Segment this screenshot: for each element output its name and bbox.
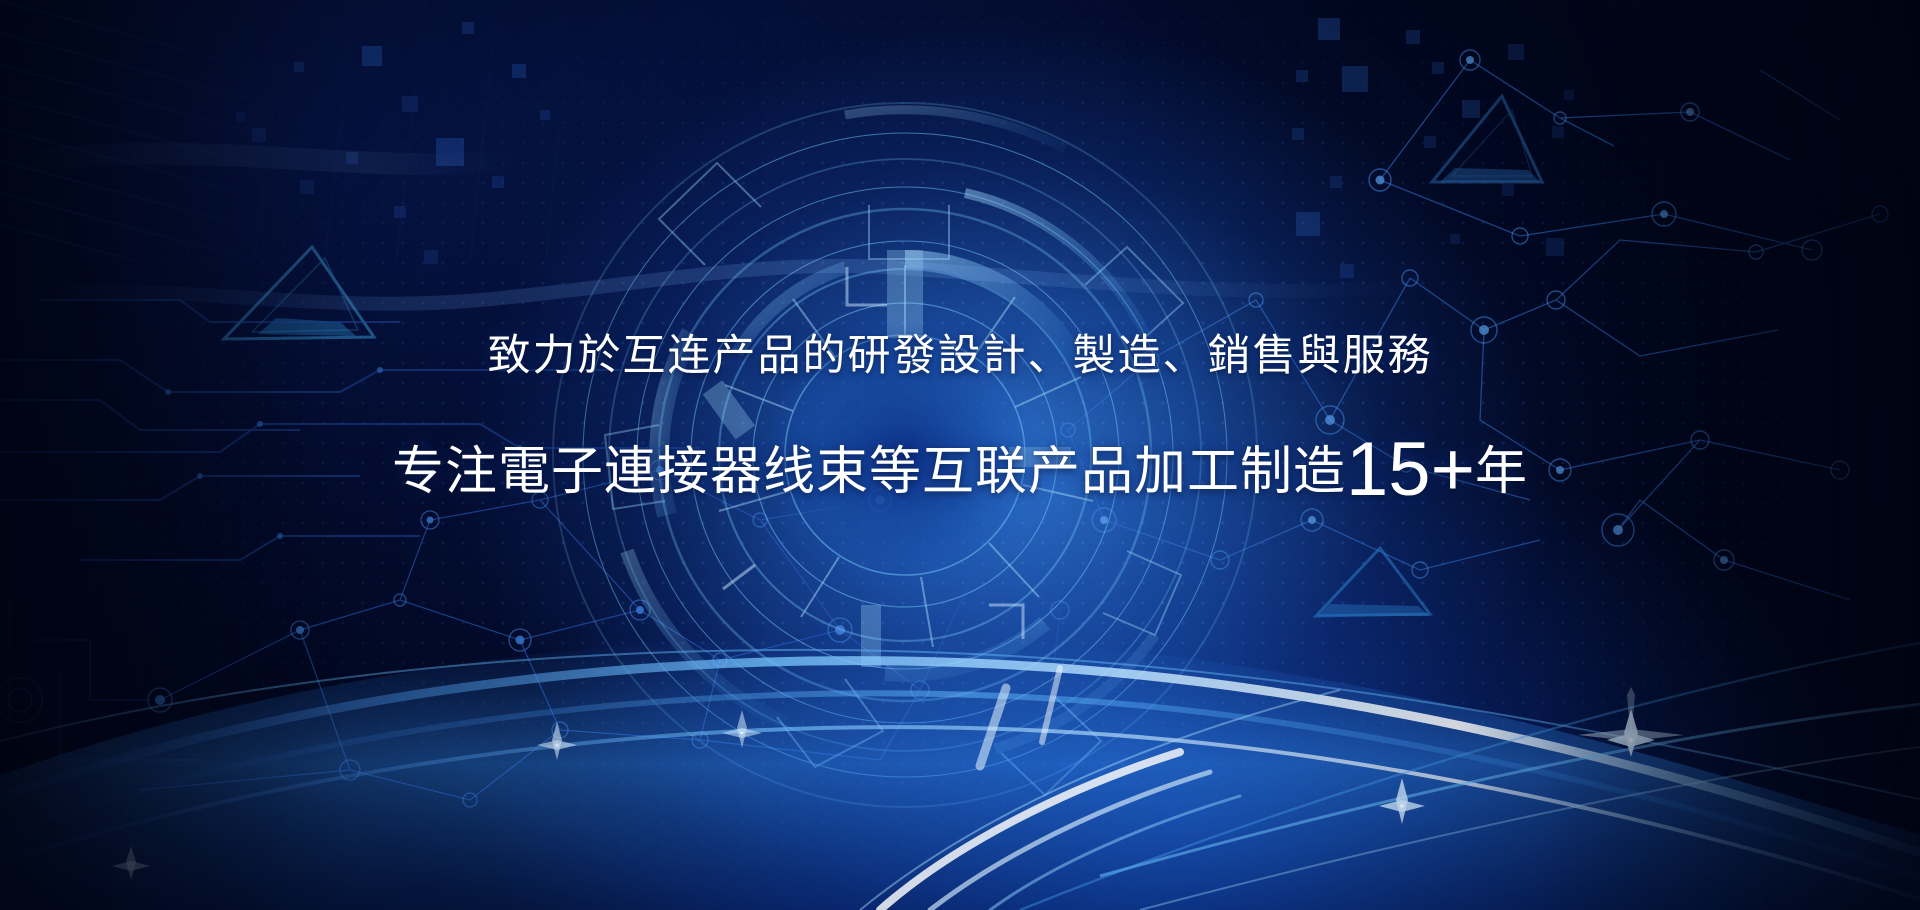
headline-years-number: 15+ — [1346, 427, 1475, 512]
banner-stage: 致力於互连产品的研發設計、製造、銷售與服務 专注電子連接器线束等互联产品加工制造… — [0, 0, 1920, 910]
headline-line-1: 致力於互连产品的研發設計、製造、銷售與服務 — [0, 330, 1920, 384]
headline-line-2-prefix: 专注電子連接器线束等互联产品加工制造 — [392, 443, 1346, 501]
headline-block: 致力於互连产品的研發設計、製造、銷售與服務 专注電子連接器线束等互联产品加工制造… — [0, 330, 1920, 513]
headline-line-2-suffix: 年 — [1475, 443, 1528, 501]
headline-line-2: 专注電子連接器线束等互联产品加工制造15+年 — [0, 426, 1920, 513]
